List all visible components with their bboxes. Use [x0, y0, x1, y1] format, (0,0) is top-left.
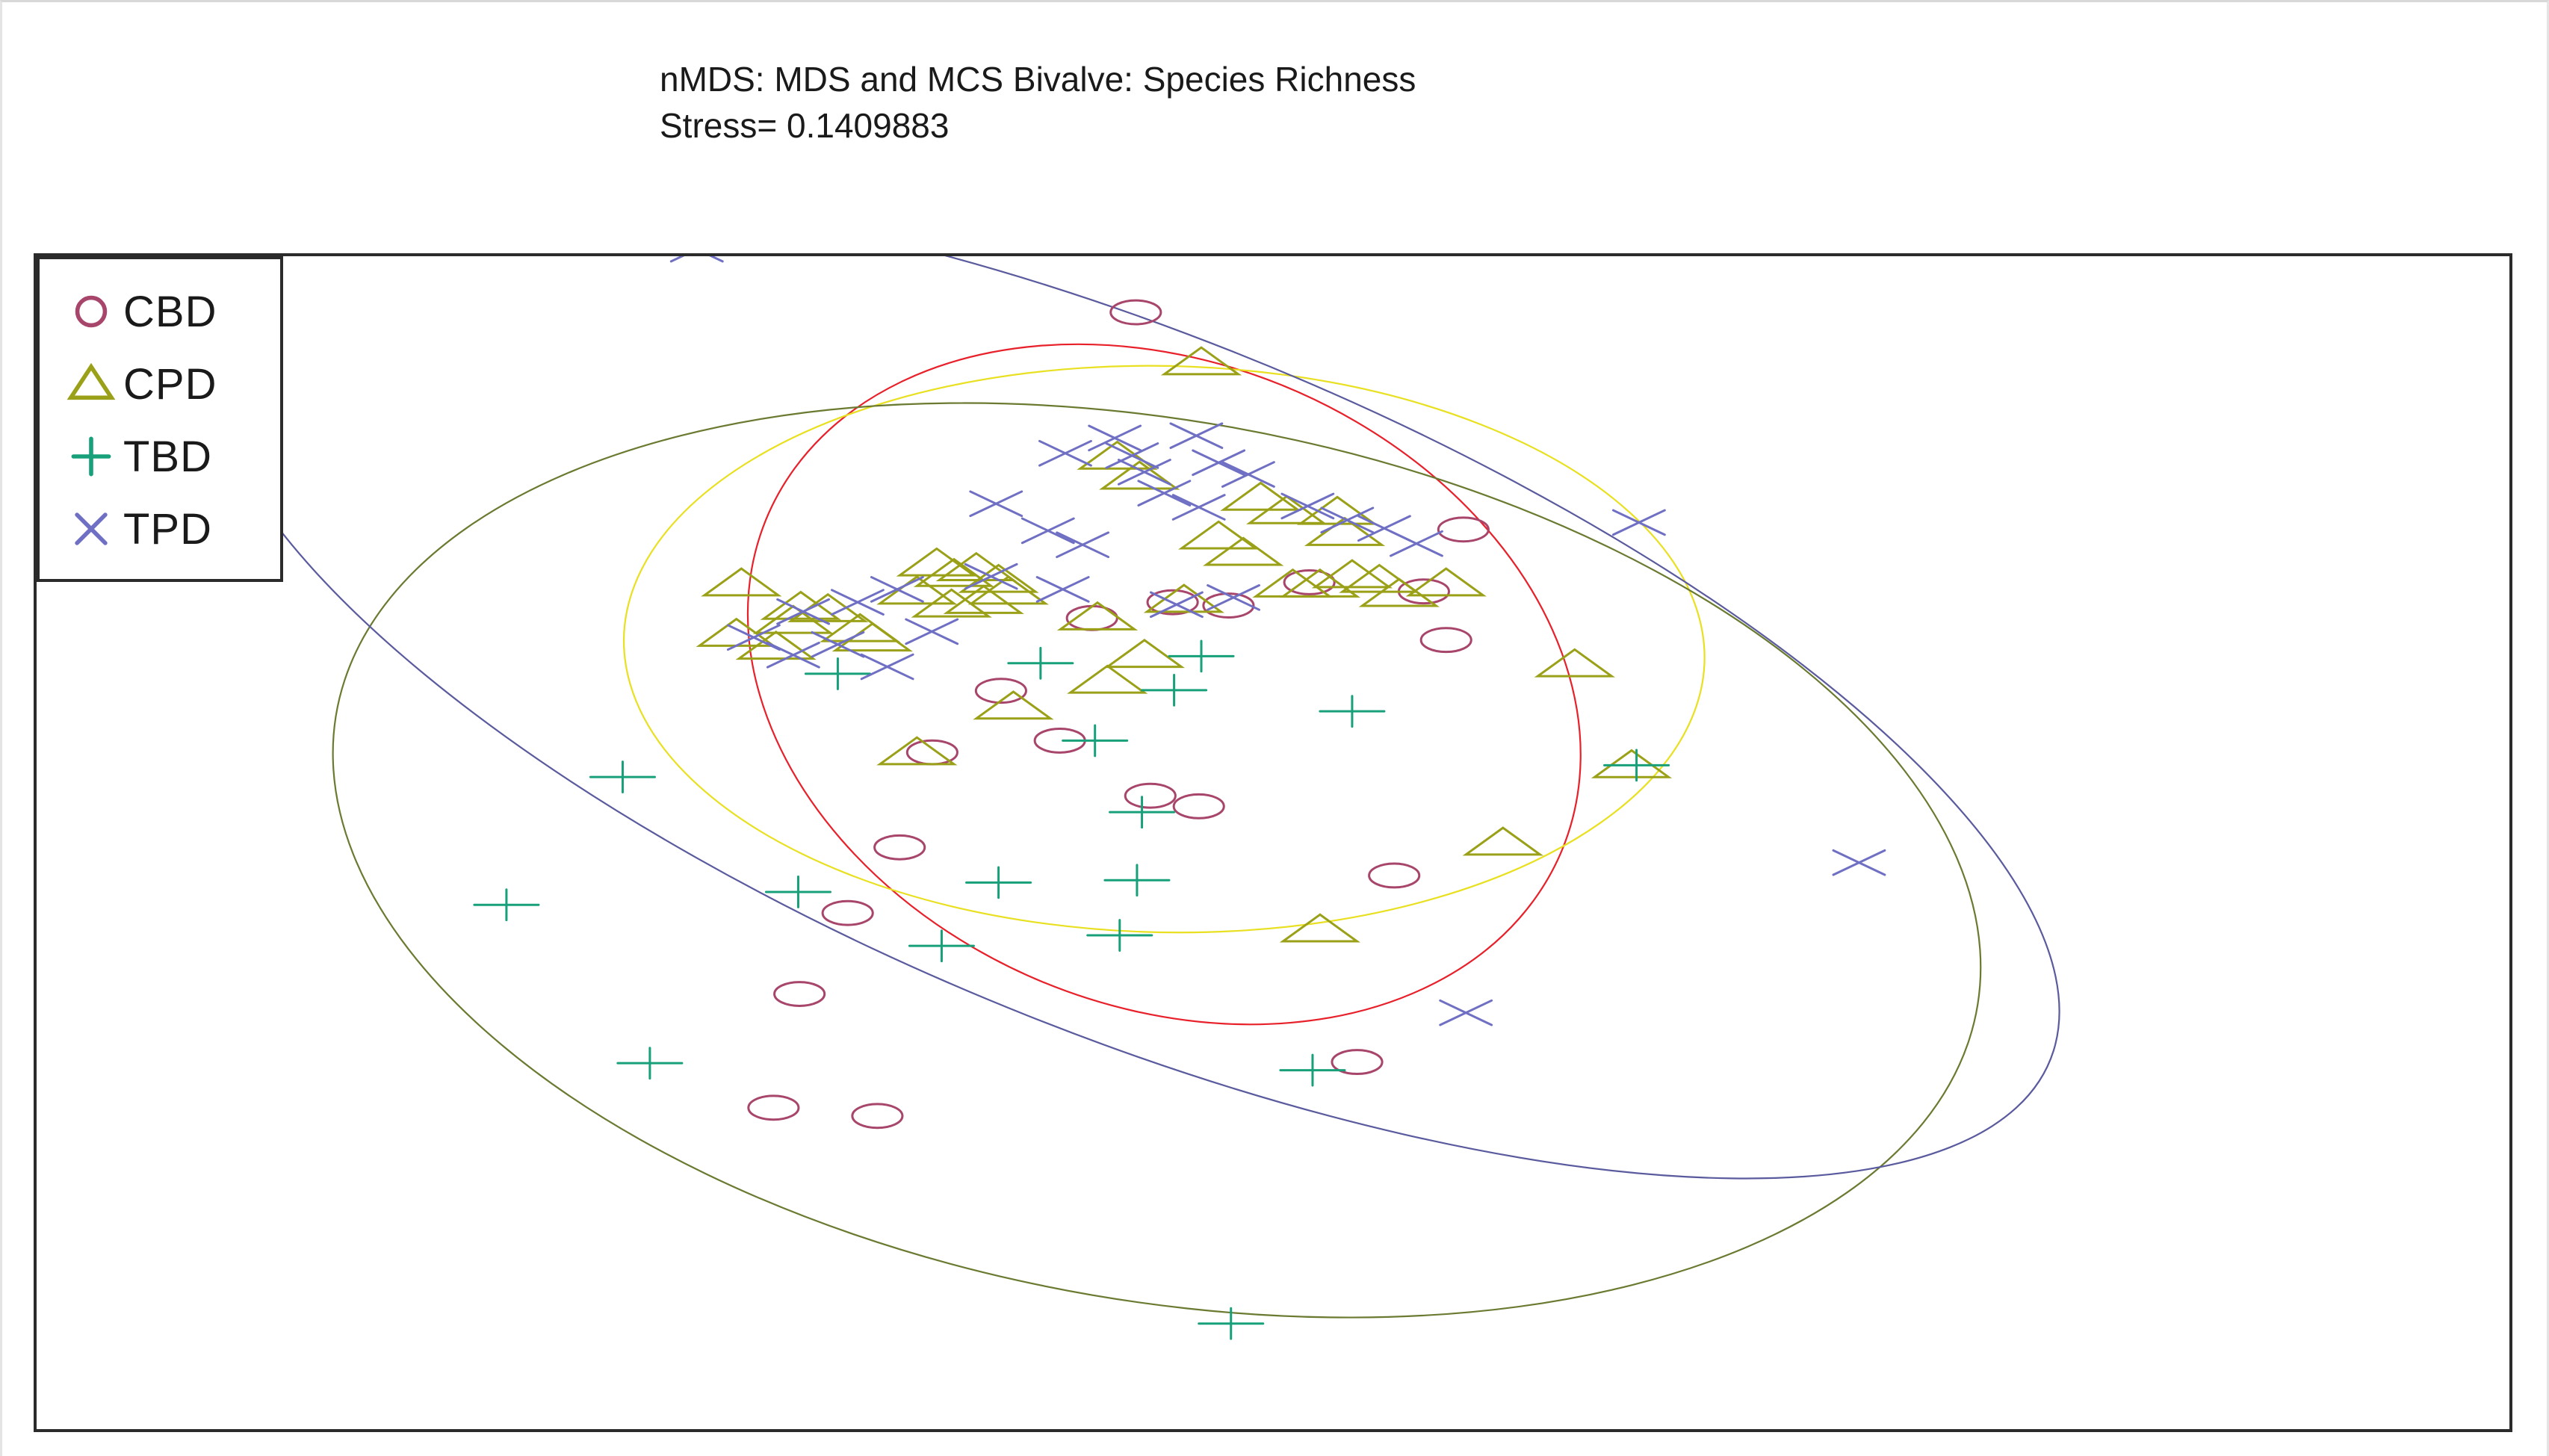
confidence-ellipses-layer: [37, 256, 2386, 1429]
data-point-tpd[interactable]: [1139, 481, 1190, 506]
data-point-cbd[interactable]: [1421, 628, 1471, 652]
data-point-tpd[interactable]: [970, 492, 1022, 516]
data-point-tpd[interactable]: [1222, 462, 1274, 487]
data-point-cpd[interactable]: [1466, 828, 1540, 855]
data-point-cpd[interactable]: [1207, 538, 1280, 565]
legend-item-tbd[interactable]: TBD: [59, 422, 276, 491]
confidence-ellipse-cbd: [642, 313, 1687, 1056]
data-point-tpd[interactable]: [1173, 495, 1224, 520]
data-point-tpd[interactable]: [1037, 577, 1088, 602]
legend-item-label: CBD: [123, 287, 217, 337]
data-point-cpd[interactable]: [976, 692, 1050, 719]
data-point-tpd[interactable]: [767, 642, 819, 667]
data-point-tbd[interactable]: [909, 931, 973, 961]
data-point-cpd[interactable]: [835, 624, 909, 651]
data-point-tbd[interactable]: [1320, 696, 1384, 727]
data-point-tpd[interactable]: [1391, 531, 1443, 556]
data-point-cpd[interactable]: [1107, 640, 1181, 667]
data-point-tbd[interactable]: [805, 659, 870, 690]
series-cpd: [699, 347, 1668, 941]
data-point-cpd[interactable]: [1537, 649, 1611, 676]
data-point-cbd[interactable]: [1438, 518, 1488, 542]
data-point-tpd[interactable]: [1022, 518, 1074, 543]
stress-value-label: Stress= 0.1409883: [660, 102, 2303, 149]
data-point-cpd[interactable]: [1071, 666, 1145, 693]
data-point-cbd[interactable]: [875, 835, 925, 859]
plus-marker-icon: [59, 422, 123, 491]
legend-item-cbd[interactable]: CBD: [59, 277, 276, 346]
data-point-tpd[interactable]: [671, 256, 722, 261]
data-point-tpd[interactable]: [1040, 441, 1091, 465]
series-tbd: [474, 641, 1669, 1339]
legend: CBDCPDTBDTPD: [37, 256, 283, 582]
data-point-tbd[interactable]: [618, 1048, 682, 1079]
data-point-cbd[interactable]: [1369, 864, 1419, 887]
data-point-cbd[interactable]: [775, 982, 825, 1006]
circle-marker-icon: [59, 277, 123, 346]
data-point-tpd[interactable]: [871, 577, 923, 602]
data-point-tpd[interactable]: [1057, 533, 1109, 557]
data-point-cpd[interactable]: [791, 595, 865, 622]
series-cbd: [749, 300, 1489, 1128]
confidence-ellipse-cpd: [547, 332, 1781, 966]
confidence-ellipse-tpd: [37, 256, 2386, 1321]
data-point-tbd[interactable]: [590, 762, 654, 793]
data-point-tpd[interactable]: [861, 654, 913, 679]
data-point-tbd[interactable]: [1605, 750, 1669, 781]
legend-item-label: TPD: [123, 504, 212, 554]
data-point-cbd[interactable]: [1111, 300, 1161, 324]
data-point-tbd[interactable]: [1142, 675, 1207, 705]
data-point-cbd[interactable]: [852, 1104, 902, 1128]
legend-item-label: CPD: [123, 359, 217, 409]
data-point-cbd[interactable]: [1174, 794, 1224, 818]
data-point-tpd[interactable]: [1833, 850, 1885, 875]
data-point-tpd[interactable]: [1613, 510, 1664, 535]
data-point-cpd[interactable]: [704, 569, 778, 595]
page-title: nMDS: MDS and MCS Bivalve: Species Richn…: [660, 56, 2303, 102]
data-point-tbd[interactable]: [967, 867, 1031, 898]
cross-marker-icon: [59, 495, 123, 563]
data-point-cpd[interactable]: [1301, 497, 1375, 524]
data-point-tbd[interactable]: [1199, 1308, 1263, 1339]
data-point-tbd[interactable]: [1088, 920, 1152, 951]
data-point-tpd[interactable]: [1440, 1000, 1492, 1025]
data-point-tbd[interactable]: [474, 890, 539, 920]
data-point-cpd[interactable]: [1182, 521, 1256, 548]
data-point-tbd[interactable]: [1105, 865, 1169, 896]
data-point-tpd[interactable]: [812, 632, 864, 657]
data-point-cpd[interactable]: [1409, 569, 1483, 595]
triangle-marker-icon: [59, 350, 123, 418]
data-point-tbd[interactable]: [1280, 1055, 1345, 1085]
data-point-cpd[interactable]: [947, 586, 1020, 613]
data-point-cbd[interactable]: [749, 1096, 799, 1120]
data-point-cbd[interactable]: [823, 901, 873, 925]
nmds-scatter-plot: [37, 256, 2509, 1429]
data-point-tpd[interactable]: [1171, 424, 1222, 448]
data-point-tbd[interactable]: [1110, 797, 1174, 828]
data-point-cbd[interactable]: [1125, 784, 1175, 808]
plot-area: CBDCPDTBDTPD: [34, 253, 2512, 1432]
data-point-cpd[interactable]: [1165, 347, 1239, 374]
data-point-tpd[interactable]: [1208, 586, 1260, 610]
legend-item-cpd[interactable]: CPD: [59, 350, 276, 418]
data-point-cbd[interactable]: [976, 679, 1026, 703]
legend-item-label: TBD: [123, 432, 212, 482]
legend-item-tpd[interactable]: TPD: [59, 495, 276, 563]
confidence-ellipse-tbd: [37, 266, 2305, 1429]
figure-canvas: nMDS: MDS and MCS Bivalve: Species Richn…: [0, 0, 2549, 1456]
data-point-tpd[interactable]: [1193, 450, 1245, 475]
data-point-tbd[interactable]: [1009, 648, 1073, 678]
chart-title-block: nMDS: MDS and MCS Bivalve: Species Richn…: [660, 56, 2303, 149]
data-point-tbd[interactable]: [766, 877, 830, 908]
data-point-tpd[interactable]: [906, 619, 958, 644]
